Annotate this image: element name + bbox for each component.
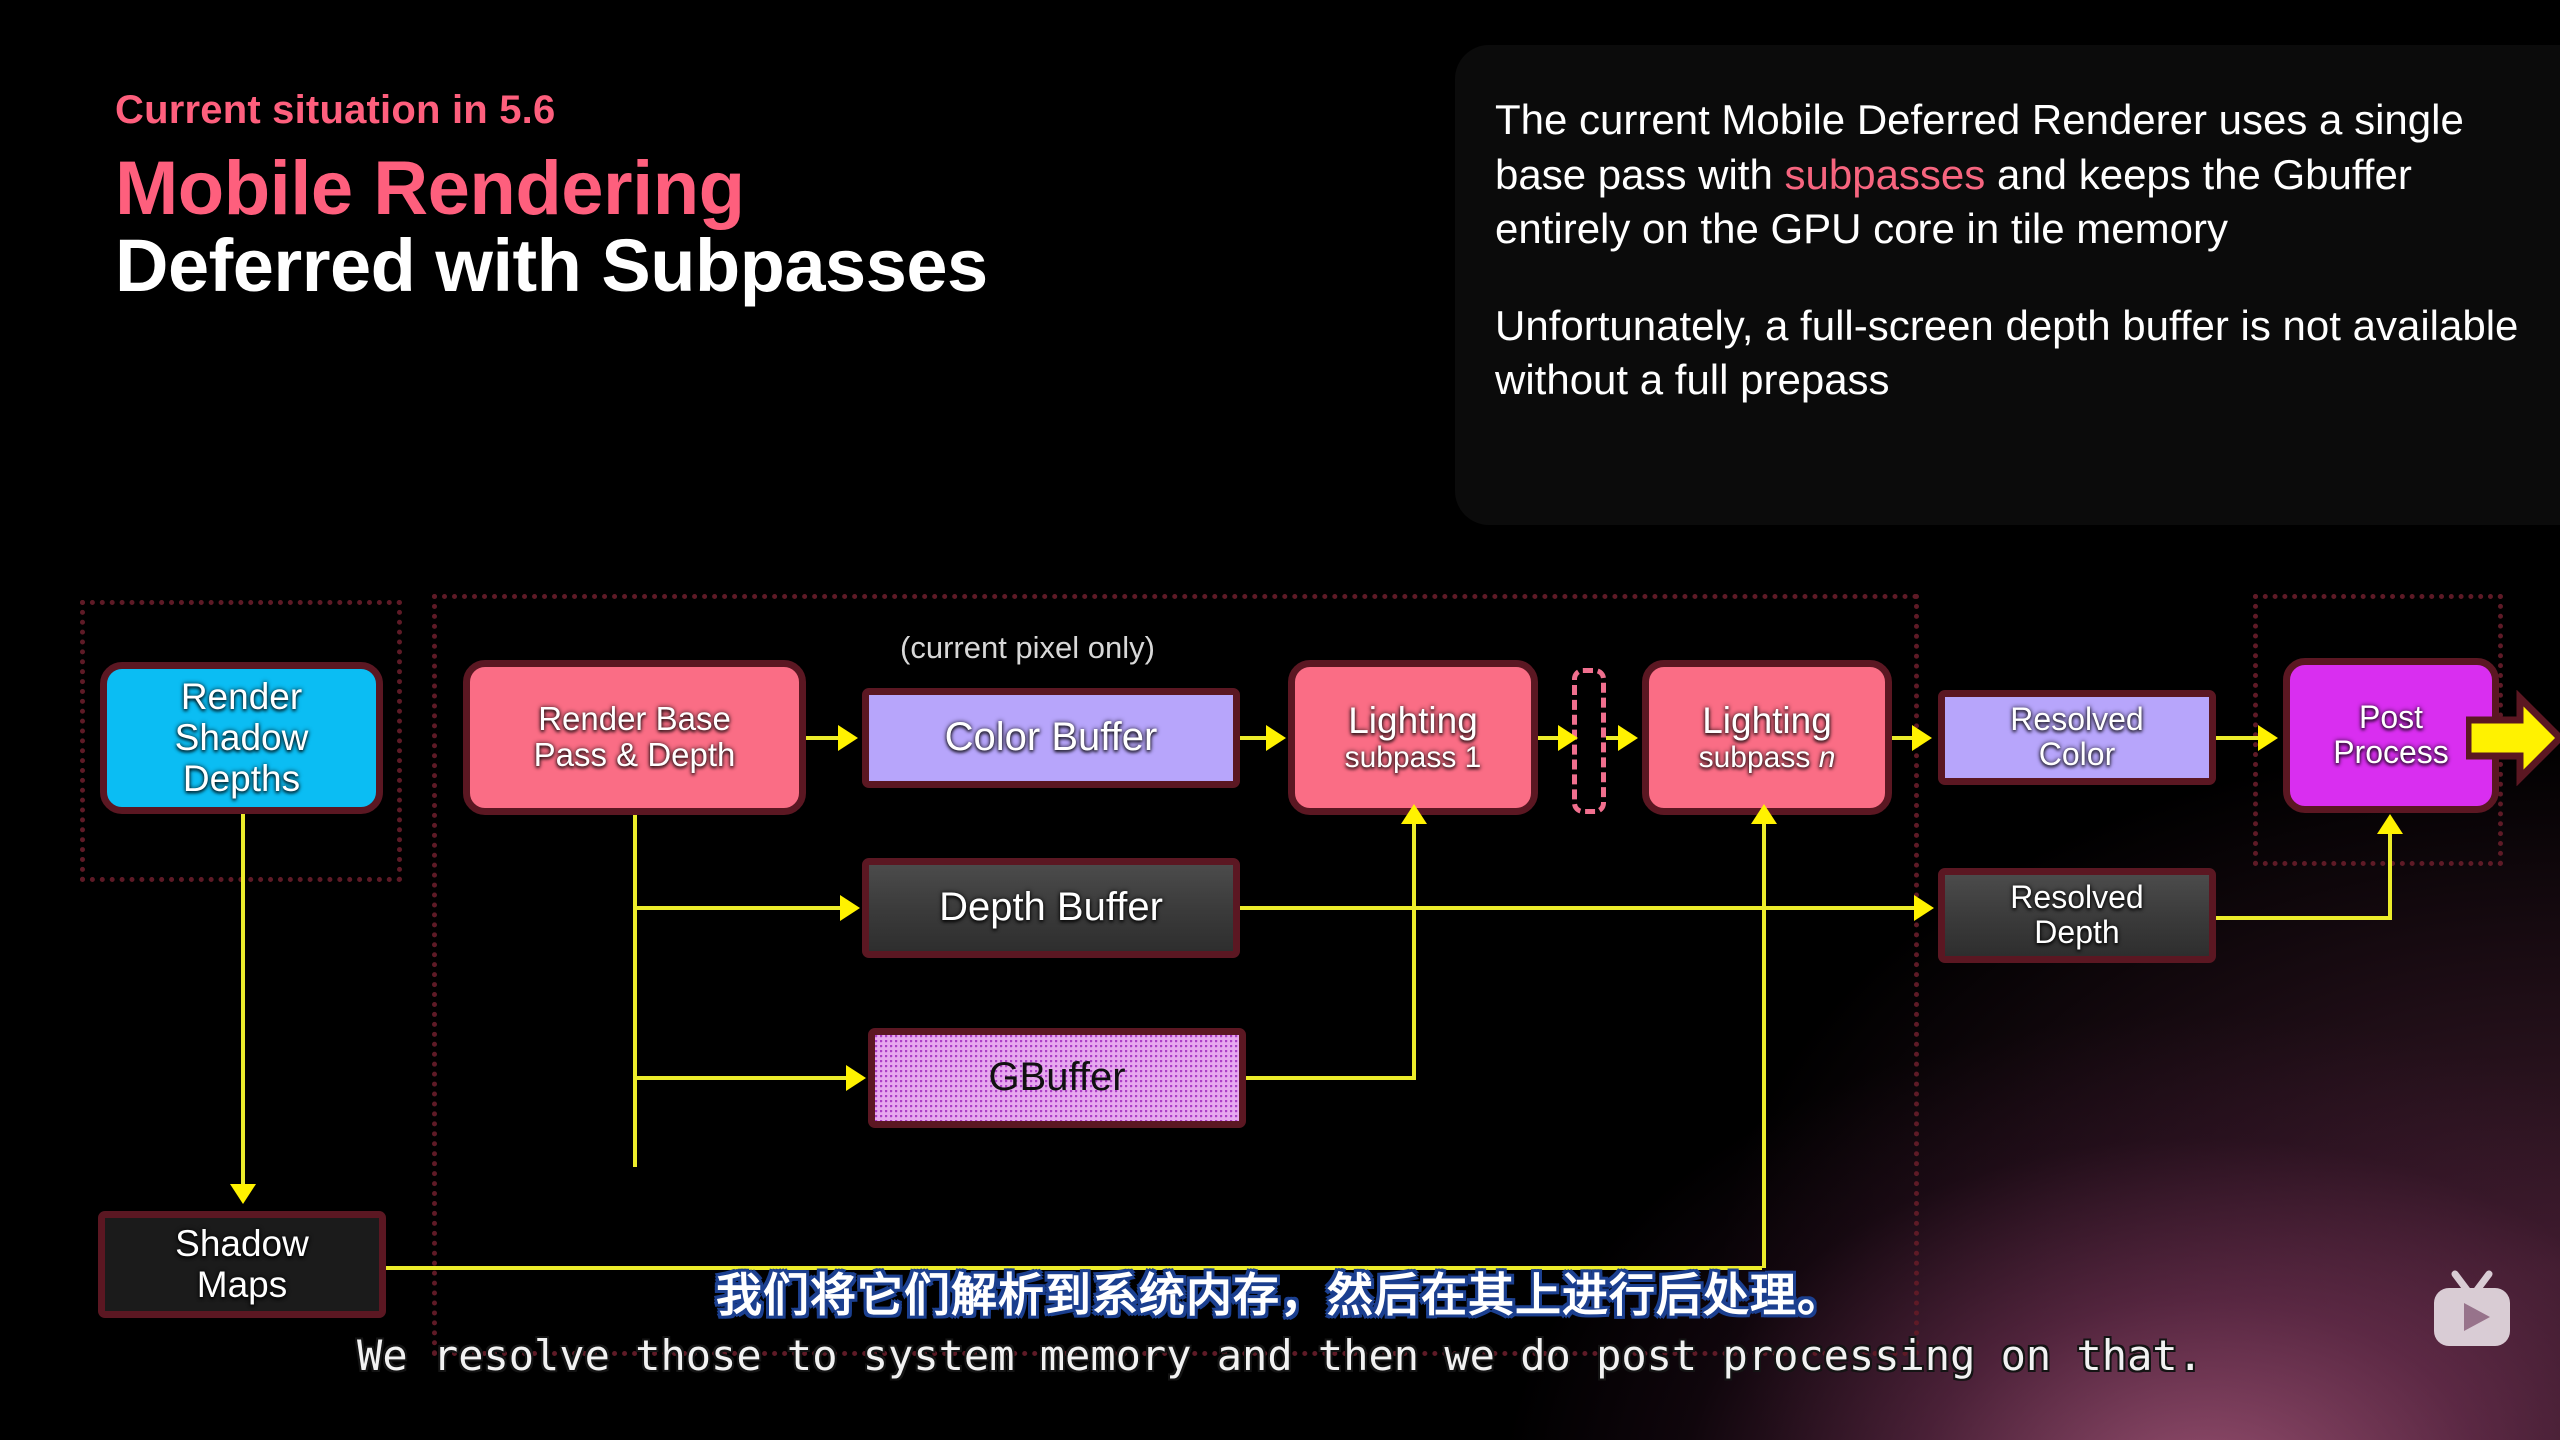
tv-play-icon [2428,1268,2516,1352]
node-line-2: subpass n [1699,741,1836,775]
wire-resolveddepth-up [2388,832,2392,920]
node-line-1: Resolved [2010,702,2143,737]
node-line-1: GBuffer [988,1056,1125,1099]
arrow-right-resolveddepth [1914,895,1934,921]
arrow-right-gbuffer [846,1065,866,1091]
wire-resolveddepth-rail [2216,916,2392,920]
node-line-2: Process [2333,735,2449,771]
wire-depthbuffer-to-resolveddepth [1240,906,1918,910]
note-p1-highlight: subpasses [1785,151,1986,198]
node-line-2: Shadow [175,717,309,758]
arrow-right-colorbuffer [838,725,858,751]
node-render-shadow-depths[interactable]: Render Shadow Depths [100,662,383,814]
arrow-right-lighting1 [1266,725,1286,751]
slide-eyebrow: Current situation in 5.6 [115,90,1365,130]
wire-resolvedcolor-to-postprocess [2216,736,2264,740]
wire-gbuffer-up-lighting1 [1412,822,1416,1078]
subtitle-block: 我们将它们解析到系统内存，然后在其上进行后处理。 We resolve thos… [0,1268,2560,1382]
slide-stage: Current situation in 5.6 Mobile Renderin… [0,0,2560,1440]
subtitle-english: We resolve those to system memory and th… [0,1331,2560,1381]
node-line-1: Render [181,677,302,717]
node-line-1: Post [2359,700,2423,735]
node-line-2-text: subpass [1699,741,1819,774]
node-line-3: Depths [183,758,300,799]
node-line-1: Color Buffer [945,716,1158,759]
node-line-1: Lighting [1348,701,1478,741]
caption-current-pixel-only: (current pixel only) [900,630,1155,666]
node-render-base-pass[interactable]: Render Base Pass & Depth [463,660,806,815]
node-resolved-color[interactable]: Resolved Color [1938,690,2216,785]
arrow-right-resolvedcolor [1912,725,1932,751]
wire-basepass-spine [633,815,637,1167]
arrow-up-lighting1-gbuffer [1401,804,1427,824]
node-line-2: subpass 1 [1345,741,1482,775]
note-panel: The current Mobile Deferred Renderer use… [1455,45,2560,525]
node-lighting-subpass-1[interactable]: Lighting subpass 1 [1288,660,1538,815]
pipeline-diagram: (current pixel only) Render Shadow Depth… [0,590,2560,1310]
wire-shadowmaps-rail-up [1762,822,1766,1268]
node-gbuffer[interactable]: GBuffer [868,1028,1246,1128]
note-paragraph-1: The current Mobile Deferred Renderer use… [1495,93,2520,257]
node-line-1: Depth Buffer [939,886,1163,929]
arrow-right-lightingn [1618,725,1638,751]
arrow-right-depthbuffer [840,895,860,921]
subtitle-chinese: 我们将它们解析到系统内存，然后在其上进行后处理。 [0,1268,2560,1323]
slide-header: Current situation in 5.6 Mobile Renderin… [115,90,1365,304]
arrow-up-lighting-n-shadow [1751,804,1777,824]
node-line-2: Color [2039,737,2115,773]
wire-spine-to-depthbuffer [633,906,845,910]
wire-spine-to-gbuffer [633,1076,851,1080]
node-line-2: Pass & Depth [534,737,736,774]
node-line-2: Depth [2034,915,2119,951]
node-lighting-subpass-n[interactable]: Lighting subpass n [1642,660,1892,815]
wire-shadowdepths-to-shadowmaps [241,814,245,1184]
page-subtitle: Deferred with Subpasses [115,228,1365,303]
arrow-down-shadowmaps [230,1184,256,1204]
wire-gbuffer-rail [1246,1076,1416,1080]
arrow-right-postprocess [2258,725,2278,751]
page-title: Mobile Rendering [115,152,1365,226]
node-depth-buffer[interactable]: Depth Buffer [862,858,1240,958]
node-line-1: Render Base [538,701,731,737]
node-line-1: Shadow [175,1224,309,1264]
node-line-1: Resolved [2010,880,2143,915]
node-line-1: Lighting [1702,701,1832,741]
arrow-right-ellipsis [1558,725,1578,751]
node-color-buffer[interactable]: Color Buffer [862,688,1240,788]
pipeline-output-arrow-icon [2466,690,2560,786]
arrow-up-postprocess-depth [2377,814,2403,834]
note-paragraph-2: Unfortunately, a full-screen depth buffe… [1495,299,2520,408]
note-paragraph-gap [1495,257,2520,299]
node-line-2-italic: n [1819,741,1836,774]
node-resolved-depth[interactable]: Resolved Depth [1938,868,2216,963]
